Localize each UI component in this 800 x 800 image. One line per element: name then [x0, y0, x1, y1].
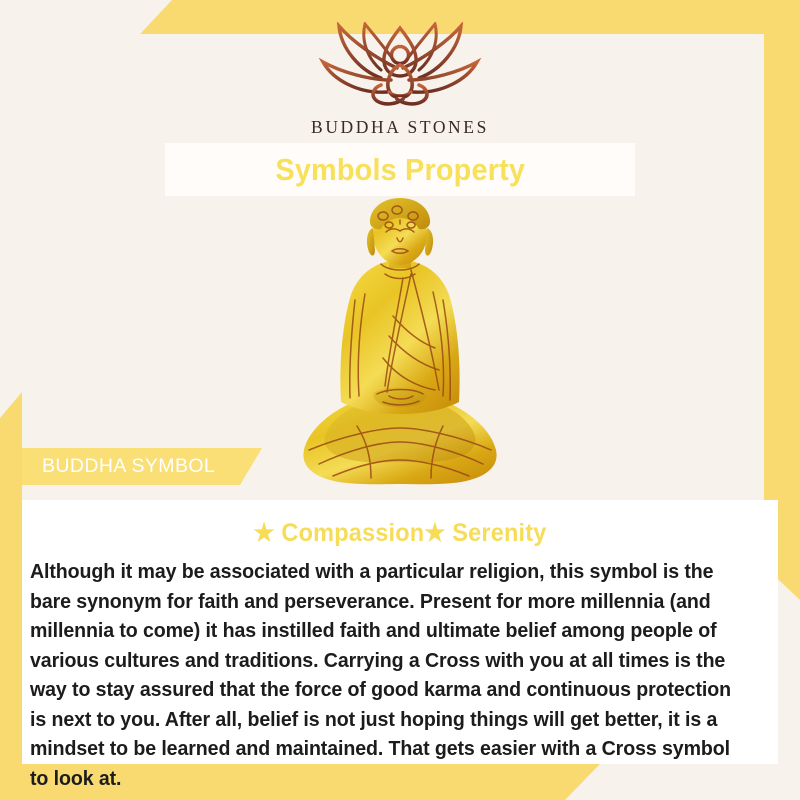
title-banner: Symbols Property — [165, 143, 635, 196]
poster-canvas: BUDDHA STONES Symbols Property — [0, 0, 800, 800]
content-paragraph: Although it may be associated with a par… — [30, 558, 740, 794]
page-title: Symbols Property — [275, 152, 525, 188]
brand-name: BUDDHA STONES — [0, 117, 800, 138]
brand-logo: BUDDHA STONES — [0, 22, 800, 138]
content-subtitle: ★ Compassion★ Serenity — [45, 518, 756, 548]
category-tag: BUDDHA SYMBOL — [22, 448, 262, 485]
category-tag-label: BUDDHA SYMBOL — [42, 455, 215, 478]
lotus-meditation-icon — [0, 22, 800, 113]
seated-buddha-statue-icon — [293, 196, 508, 492]
content-panel: ★ Compassion★ Serenity Although it may b… — [22, 500, 778, 764]
